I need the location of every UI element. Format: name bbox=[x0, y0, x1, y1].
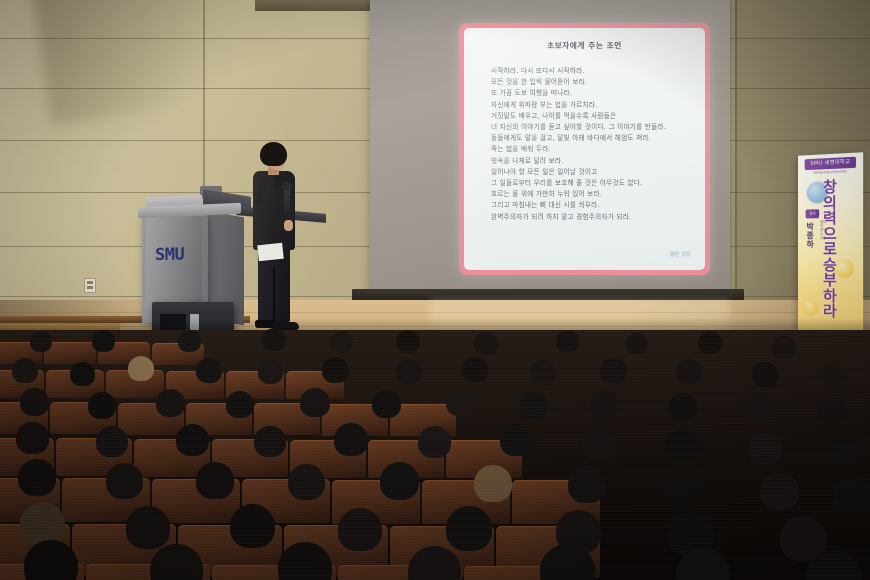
podium-smu-logo: SMU bbox=[155, 245, 184, 266]
banner-university-subname: Semyung University bbox=[804, 169, 857, 177]
audience-head bbox=[16, 422, 49, 454]
slide-line: 일어나야 할 모든 일은 일어날 것이고 bbox=[491, 167, 695, 178]
audience-head bbox=[20, 388, 49, 416]
audience-head bbox=[582, 427, 616, 460]
audience-head bbox=[262, 328, 286, 351]
audience-head bbox=[70, 362, 95, 386]
audience-head bbox=[446, 388, 475, 416]
wall-outlet bbox=[84, 278, 96, 293]
auditorium-photo: 초보자에게 주는 조언 시작하라. 다시 또다시 시작하라. 모든 것을 한 입… bbox=[0, 0, 870, 580]
audience-head bbox=[752, 362, 778, 387]
audience-head bbox=[772, 336, 796, 359]
audience-head bbox=[590, 390, 620, 419]
audience-head bbox=[258, 360, 283, 384]
slide-line: 빗속을 나체로 달려 보라. bbox=[491, 156, 695, 167]
banner-name-char: 박 bbox=[807, 222, 820, 231]
audience-head bbox=[380, 462, 419, 500]
banner-affil-line: 연구소 bbox=[820, 228, 827, 236]
seat bbox=[44, 342, 96, 364]
audience-head bbox=[396, 359, 422, 384]
slide-line: 그 일들로부터 우리를 보호해 줄 것은 아무것도 없다. bbox=[491, 178, 695, 189]
slide-line: 시작하라. 다시 또다시 시작하라. bbox=[491, 66, 695, 77]
slide-credit: - 엘런 코트 bbox=[666, 250, 691, 258]
banner-speaker-name: 박 종 하 bbox=[807, 222, 820, 249]
audience-head bbox=[396, 330, 420, 353]
audience-head bbox=[156, 389, 185, 417]
audience-head bbox=[668, 393, 697, 421]
presenter bbox=[243, 142, 309, 334]
ceiling-beam bbox=[255, 0, 370, 11]
audience-head bbox=[230, 504, 275, 548]
slide-line: 너 자신의 이야기를 듣고 싶어할 것이다. 그 이야기를 만들라. bbox=[491, 122, 695, 133]
audience-head bbox=[288, 464, 325, 500]
audience-head bbox=[520, 392, 548, 419]
slide-line: 모든 것을 한 입씩 물어뜯어 보라. bbox=[491, 77, 695, 88]
audience-head bbox=[818, 397, 847, 425]
audience-head bbox=[446, 506, 492, 551]
banner-yellow-orb bbox=[803, 299, 818, 315]
audience-head bbox=[530, 360, 556, 385]
audience-head bbox=[666, 429, 699, 461]
audience-head bbox=[20, 502, 65, 546]
audience-head bbox=[568, 466, 606, 503]
banner-university-name: SMU 세명대학교 bbox=[805, 157, 856, 170]
audience-head bbox=[12, 358, 38, 383]
audience-head bbox=[196, 358, 222, 383]
slide-line: 돌들에게도 말을 걸고, 달빛 아래 바다에서 헤엄도 쳐라. bbox=[491, 133, 695, 144]
audience-head bbox=[322, 357, 349, 383]
audience-head bbox=[88, 392, 116, 419]
audience-head bbox=[698, 331, 722, 354]
presenter-hand bbox=[284, 220, 293, 231]
slide-line: 자신에게 휘파람 부는 법을 가르치라. bbox=[491, 100, 695, 111]
audience-head bbox=[106, 463, 143, 499]
audience-head bbox=[178, 330, 201, 352]
audience-head bbox=[748, 432, 782, 465]
slide-line: 흐르는 물 위에 가만히 누워 있어 보라. bbox=[491, 189, 695, 200]
audience-head bbox=[760, 472, 799, 510]
audience-head bbox=[474, 465, 512, 502]
audience-head bbox=[834, 475, 870, 512]
microphone-head bbox=[282, 182, 292, 191]
audience-head bbox=[300, 388, 330, 417]
audience-head bbox=[744, 395, 773, 423]
audience-head bbox=[338, 508, 382, 551]
audience-head bbox=[600, 358, 627, 384]
banner-affil-line: 창의력 bbox=[820, 220, 827, 228]
audience-head bbox=[92, 330, 115, 352]
audience-head bbox=[418, 426, 451, 458]
audience-head bbox=[372, 390, 401, 418]
banner-affil-line: 소장 bbox=[820, 236, 827, 240]
banner-name-char: 종 bbox=[807, 231, 820, 240]
banner-speaker-tag: 강사 bbox=[806, 209, 820, 218]
audience-head bbox=[96, 426, 128, 457]
audience-head bbox=[196, 462, 234, 499]
presenter-hair bbox=[260, 142, 287, 166]
slide-line: 또 가끔 도보 여행을 떠나라. bbox=[491, 88, 695, 99]
audience-head bbox=[126, 506, 170, 549]
banner-name-char: 하 bbox=[807, 240, 820, 249]
audience-head bbox=[626, 333, 648, 354]
slide-line: 그리고 마침내는 뼈 대신 시를 씌우라. bbox=[491, 200, 695, 211]
slide-inner: 초보자에게 주는 조언 시작하라. 다시 또다시 시작하라. 모든 것을 한 입… bbox=[464, 28, 705, 270]
audience-head bbox=[500, 424, 533, 456]
audience-head bbox=[820, 364, 846, 389]
audience-head bbox=[18, 459, 56, 496]
projected-slide: 초보자에게 주는 조언 시작하라. 다시 또다시 시작하라. 모든 것을 한 입… bbox=[459, 23, 710, 275]
microphone bbox=[284, 186, 290, 220]
notes-paper bbox=[257, 243, 284, 262]
audience-head bbox=[474, 332, 498, 355]
audience-head bbox=[826, 434, 859, 466]
audience-head bbox=[676, 359, 702, 384]
audience-head bbox=[226, 391, 254, 418]
slide-line: 거짓말도 배우고, 나이를 먹을수록 사람들은 bbox=[491, 111, 695, 122]
slide-body: 시작하라. 다시 또다시 시작하라. 모든 것을 한 입씩 물어뜯어 보라. 또… bbox=[491, 66, 695, 223]
slide-line: 죽는 법을 배워 두라. bbox=[491, 144, 695, 155]
audience-head bbox=[330, 331, 353, 353]
audience-head bbox=[30, 331, 52, 352]
audience-head bbox=[254, 426, 286, 457]
audience-head bbox=[176, 424, 209, 456]
audience-head bbox=[556, 330, 579, 352]
slide-title: 초보자에게 주는 조언 bbox=[464, 40, 705, 51]
slide-line: 완벽주의자가 되려 하지 말고 경험주의자가 되라. bbox=[491, 212, 695, 223]
presenter-leg-split bbox=[273, 267, 275, 322]
audience-head bbox=[462, 357, 488, 382]
banner-headline: 창 의 력 으 로 승 부 하 라 bbox=[823, 179, 861, 321]
audience-head bbox=[334, 423, 368, 456]
audience-head bbox=[128, 356, 154, 381]
audience-head bbox=[664, 469, 703, 507]
banner-speaker-affiliation: 창의력 연구소 소장 bbox=[820, 220, 827, 240]
